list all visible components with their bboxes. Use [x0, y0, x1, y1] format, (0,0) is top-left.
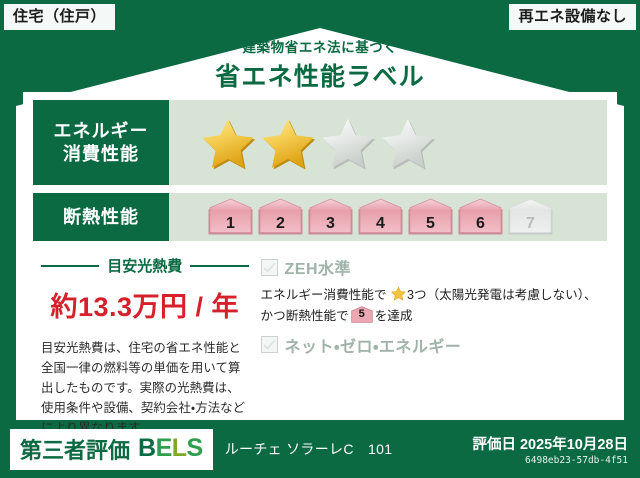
zeh-desc-star-count: 3つ（太陽光発電: [407, 288, 502, 302]
insulation-performance-scale-area: 1234567: [169, 193, 607, 241]
insulation-level-value: 3: [307, 215, 354, 233]
energy-cost-heading-text: 目安光熱費: [107, 255, 182, 276]
insulation-scale: 1234567: [201, 198, 554, 236]
insulation-level-6: 6: [457, 198, 504, 236]
check-icon: [263, 262, 276, 274]
footer: 第三者評価 BELS ルーチェ ソラーレC 101 評価日 2025年10月28…: [0, 420, 640, 478]
label-card: エネルギー 消費性能 断熱性能 1234567 目安光熱費 約13.3万: [23, 92, 617, 413]
evaluation-info: 評価日 2025年10月28日 6498eb23-57db-4f51: [472, 433, 628, 466]
energy-cost-value: 約13.3万円 / 年: [41, 285, 249, 324]
star-rating: [201, 116, 435, 170]
energy-performance-label: エネルギー 消費性能: [33, 100, 169, 185]
label-title-block: 建築物省エネ法に基づく 省エネ性能ラベル: [0, 36, 640, 93]
insulation-level-value: 4: [357, 215, 404, 233]
energy-performance-label-line2: 消費性能: [63, 143, 139, 166]
check-icon: [263, 339, 276, 351]
zeh-standard-checkbox[interactable]: [261, 259, 278, 276]
bels-logo-en: BELS: [138, 434, 203, 463]
star-filled-icon: [201, 116, 255, 170]
insulation-level-3: 3: [307, 198, 354, 236]
zeh-standard-row: ZEH水準: [261, 255, 605, 279]
insulation-performance-row: 断熱性能 1234567: [33, 193, 607, 241]
bels-logo: 第三者評価 BELS: [10, 429, 213, 470]
page-title: 省エネ性能ラベル: [0, 57, 640, 93]
energy-performance-stars-area: [169, 100, 607, 185]
insulation-level-value: 1: [207, 215, 254, 233]
bels-letter-e: E: [156, 434, 172, 462]
building-type-tag: 住宅（住戸）: [4, 4, 115, 30]
insulation-level-value: 7: [507, 215, 554, 233]
energy-performance-row: エネルギー 消費性能: [33, 100, 607, 185]
lower-section: 目安光熱費 約13.3万円 / 年 目安光熱費は、住宅の省エネ性能と全国一律の燃…: [35, 251, 605, 406]
insulation-level-value: 5: [407, 215, 454, 233]
net-zero-energy-label: ネット・ゼロ・エネルギー: [285, 333, 462, 357]
zeh-desc-part3: を達成: [375, 309, 413, 323]
evaluation-date: 評価日 2025年10月28日: [472, 433, 628, 454]
net-zero-energy-row: ネット・ゼロ・エネルギー: [261, 333, 605, 357]
inline-star-icon: [391, 286, 406, 301]
zeh-description: エネルギー消費性能で 3つ（太陽光発電は考慮しない）、かつ断熱性能で 5 を達成: [261, 285, 605, 327]
bels-letter-s: S: [187, 434, 203, 462]
bels-letter-b: B: [138, 434, 156, 462]
energy-label-root: 住宅（住戸） 再エネ設備なし 建築物省エネ法に基づく 省エネ性能ラベル エネルギ…: [0, 0, 640, 478]
insulation-level-2: 2: [257, 198, 304, 236]
insulation-performance-label: 断熱性能: [33, 193, 169, 241]
zeh-section: ZEH水準 エネルギー消費性能で 3つ（太陽光発電は考慮しない）、かつ断熱性能で…: [249, 251, 605, 406]
heading-rule-left: [41, 265, 99, 267]
bels-letter-l: L: [172, 434, 187, 462]
energy-performance-label-line1: エネルギー: [54, 120, 149, 143]
heading-rule-right: [190, 265, 248, 267]
insulation-level-7: 7: [507, 198, 554, 236]
label-subtitle: 建築物省エネ法に基づく: [0, 36, 640, 56]
energy-cost-heading: 目安光熱費: [41, 255, 249, 276]
star-filled-icon: [261, 116, 315, 170]
bels-logo-jp: 第三者評価: [20, 433, 130, 465]
insulation-level-value: 6: [457, 215, 504, 233]
insulation-level-5: 5: [407, 198, 454, 236]
insulation-level-1: 1: [207, 198, 254, 236]
evaluation-id: 6498eb23-57db-4f51: [472, 455, 628, 466]
inline-insulation-badge-value: 5: [351, 305, 373, 323]
star-empty-icon: [321, 116, 375, 170]
zeh-standard-label: ZEH水準: [285, 255, 352, 279]
energy-cost-section: 目安光熱費 約13.3万円 / 年 目安光熱費は、住宅の省エネ性能と全国一律の燃…: [35, 251, 249, 406]
net-zero-energy-checkbox[interactable]: [261, 336, 278, 353]
insulation-level-value: 2: [257, 215, 304, 233]
renewable-energy-tag: 再エネ設備なし: [509, 4, 636, 30]
insulation-level-4: 4: [357, 198, 404, 236]
star-empty-icon: [381, 116, 435, 170]
property-name: ルーチェ ソラーレC 101: [225, 439, 393, 459]
inline-insulation-badge: 5: [351, 306, 373, 323]
zeh-desc-part1: エネルギー消費性能で: [261, 288, 387, 302]
